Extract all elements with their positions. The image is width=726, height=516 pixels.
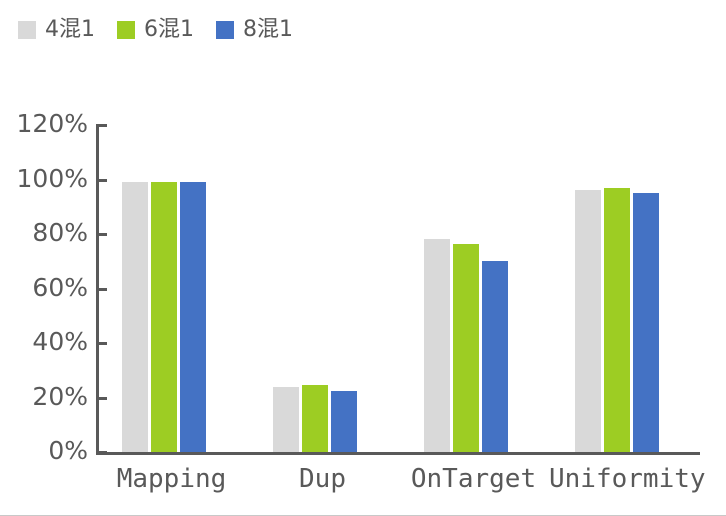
x-axis-label-ontarget: OnTarget — [398, 464, 549, 494]
x-axis-label-mapping: Mapping — [96, 464, 247, 494]
bar-mapping-series-2[interactable] — [180, 182, 206, 452]
bar-ontarget-series-0[interactable] — [424, 239, 450, 452]
bar-ontarget-series-1[interactable] — [453, 244, 479, 452]
x-axis-label-uniformity: Uniformity — [549, 464, 700, 494]
bar-ontarget-series-2[interactable] — [482, 261, 508, 452]
bar-chart: 4混1 6混1 8混1 0%20%40%60%80%100%120% Mappi… — [0, 0, 726, 516]
bar-uniformity-series-2[interactable] — [633, 193, 659, 452]
bar-uniformity-series-0[interactable] — [575, 190, 601, 452]
x-axis-label-dup: Dup — [247, 464, 398, 494]
x-axis-category-labels: MappingDupOnTargetUniformity — [96, 464, 700, 508]
bar-dup-series-1[interactable] — [302, 385, 328, 452]
bar-dup-series-2[interactable] — [331, 391, 357, 452]
bar-mapping-series-1[interactable] — [151, 182, 177, 452]
bars-layer — [0, 0, 726, 516]
bar-dup-series-0[interactable] — [273, 387, 299, 452]
bar-uniformity-series-1[interactable] — [604, 188, 630, 452]
bar-mapping-series-0[interactable] — [122, 182, 148, 452]
